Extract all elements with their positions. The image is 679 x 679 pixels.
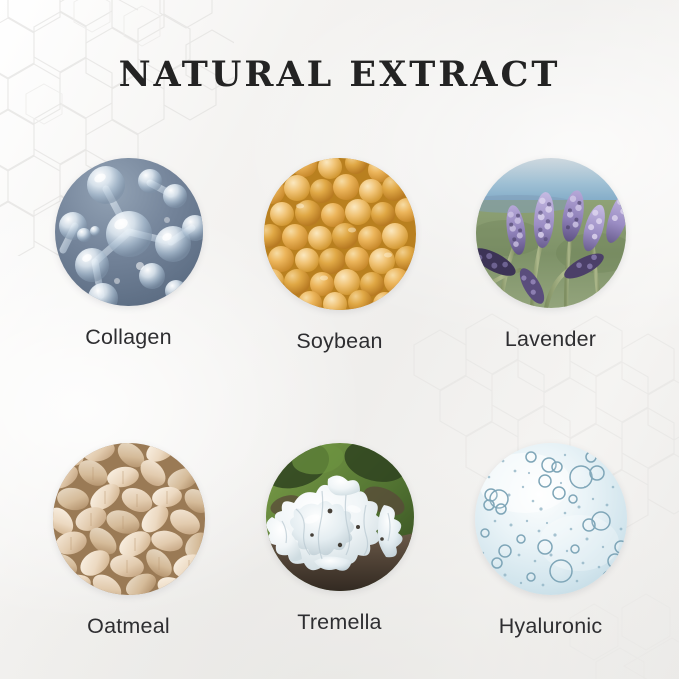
ingredient-label-tremella: Tremella (297, 612, 381, 634)
ingredient-label-soybean: Soybean (296, 331, 382, 353)
ingredient-label-collagen: Collagen (85, 327, 171, 349)
rolled-oats-photo (53, 443, 205, 595)
ingredient-card-hyaluronic[interactable]: Hyaluronic (458, 443, 643, 638)
soybeans-photo (264, 158, 416, 310)
ingredient-row-2: Oatmeal (36, 443, 643, 638)
lavender-flowers-photo (476, 158, 626, 308)
tremella-mushroom-photo (266, 443, 414, 591)
collagen-molecule-photo (55, 158, 203, 306)
ingredient-card-tremella[interactable]: Tremella (247, 443, 432, 634)
page-title: NATURAL EXTRACT (0, 54, 679, 95)
ingredient-grid: Collagen (36, 158, 643, 637)
ingredient-row-1: Collagen (36, 158, 643, 353)
natural-extract-infographic: NATURAL EXTRACT (0, 0, 679, 679)
ingredient-label-lavender: Lavender (505, 329, 596, 351)
ingredient-card-oatmeal[interactable]: Oatmeal (36, 443, 221, 638)
ingredient-label-hyaluronic: Hyaluronic (499, 616, 603, 638)
ingredient-card-lavender[interactable]: Lavender (458, 158, 643, 351)
hyaluronic-gel-bubbles-photo (475, 443, 627, 595)
ingredient-card-collagen[interactable]: Collagen (36, 158, 221, 349)
ingredient-card-soybean[interactable]: Soybean (247, 158, 432, 353)
ingredient-label-oatmeal: Oatmeal (87, 616, 170, 638)
